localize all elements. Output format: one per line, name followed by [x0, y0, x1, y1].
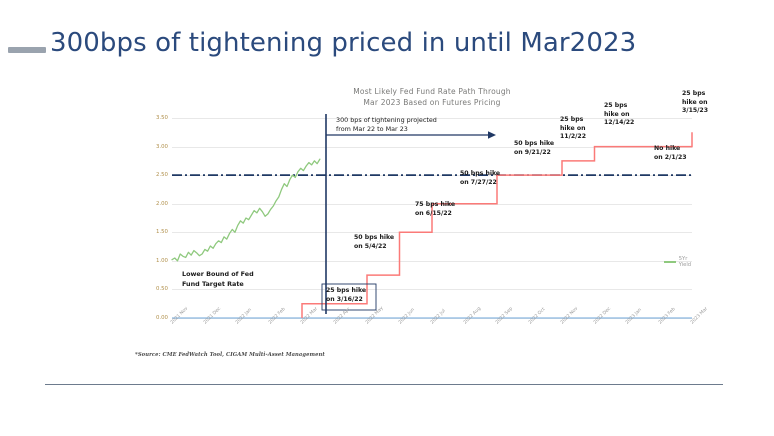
annotation-no-hike-2-1-23-line1: No hike — [654, 145, 687, 154]
annotation-hike-9-21-22-line2: on 9/21/22 — [514, 149, 554, 158]
annotation-hike-3-15-23-line1: 25 bps — [682, 90, 708, 99]
annotation-no-hike-2-1-23: No hike on 2/1/23 — [654, 145, 687, 162]
annotation-hike-7-27-22-line1: 50 bps hike — [460, 170, 500, 179]
annotation-hike-3-15-23: 25 bps hike on 3/15/23 — [682, 90, 708, 116]
annotation-hike-3-16-22-line1: 25 bps hike — [326, 287, 366, 296]
annotation-hike-3-15-23-line3: 3/15/23 — [682, 107, 708, 116]
annotation-hike-12-14-22-line2: hike on — [604, 111, 634, 120]
annotation-hike-12-14-22-line1: 25 bps — [604, 102, 634, 111]
annotation-hike-11-2-22-line2: hike on — [560, 125, 586, 134]
annotation-hike-7-27-22-line2: on 7/27/22 — [460, 179, 500, 188]
y-tick-2.50: 2.50 — [134, 172, 168, 178]
annotation-tightening-line2: from Mar 22 to Mar 23 — [336, 125, 437, 134]
annotation-hike-3-15-23-line2: hike on — [682, 99, 708, 108]
annotation-hike-11-2-22-line1: 25 bps — [560, 116, 586, 125]
annotation-lower-bound-line2: Fund Target Rate — [182, 280, 254, 290]
title-accent-dash — [8, 47, 46, 53]
y-tick-1.00: 1.00 — [134, 258, 168, 264]
annotation-hike-6-15-22: 75 bps hike on 6/15/22 — [415, 201, 455, 218]
y-axis: 3.50 3.00 2.50 2.00 1.50 1.00 0.50 0.00 — [132, 118, 168, 318]
annotation-hike-5-4-22-line2: on 5/4/22 — [354, 243, 394, 252]
x-tick-label: 2023 Mar — [690, 307, 709, 326]
page-title: 300bps of tightening priced in until Mar… — [50, 28, 636, 58]
chart-container: Most Likely Fed Fund Rate Path Through M… — [132, 86, 732, 376]
annotation-tightening-line1: 300 bps of tightening projected — [336, 116, 437, 125]
x-axis: 2021 Nov2021 Dec2022 Jan2022 Feb2022 Mar… — [172, 322, 692, 356]
annotation-hike-12-14-22-line3: 12/14/22 — [604, 119, 634, 128]
footer-divider — [45, 384, 723, 385]
y-tick-0.50: 0.50 — [134, 286, 168, 292]
annotation-hike-5-4-22: 50 bps hike on 5/4/22 — [354, 234, 394, 251]
annotation-no-hike-2-1-23-line2: on 2/1/23 — [654, 154, 687, 163]
chart-title-line1: Most Likely Fed Fund Rate Path Through — [353, 87, 511, 96]
annotation-tightening-projected: 300 bps of tightening projected from Mar… — [336, 116, 437, 134]
slide: 300bps of tightening priced in until Mar… — [0, 0, 774, 436]
y-tick-0.00: 0.00 — [134, 315, 168, 321]
annotation-hike-11-2-22: 25 bps hike on 11/2/22 — [560, 116, 586, 142]
chart-legend: 5Yr Yield — [664, 256, 695, 268]
annotation-hike-6-15-22-line2: on 6/15/22 — [415, 210, 455, 219]
annotation-hike-9-21-22: 50 bps hike on 9/21/22 — [514, 140, 554, 157]
annotation-hike-7-27-22: 50 bps hike on 7/27/22 — [460, 170, 500, 187]
annotation-hike-6-15-22-line1: 75 bps hike — [415, 201, 455, 210]
y-tick-3.00: 3.00 — [134, 144, 168, 150]
annotation-hike-5-4-22-line1: 50 bps hike — [354, 234, 394, 243]
annotation-hike-12-14-22: 25 bps hike on 12/14/22 — [604, 102, 634, 128]
annotation-hike-3-16-22-line2: on 3/16/22 — [326, 296, 366, 305]
annotation-hike-3-16-22: 25 bps hike on 3/16/22 — [326, 287, 366, 304]
y-tick-2.00: 2.00 — [134, 201, 168, 207]
annotation-hike-11-2-22-line3: 11/2/22 — [560, 133, 586, 142]
tightening-arrow-head — [488, 131, 496, 139]
plot-area: 300 bps of tightening projected from Mar… — [172, 118, 692, 318]
annotation-hike-9-21-22-line1: 50 bps hike — [514, 140, 554, 149]
y-tick-1.50: 1.50 — [134, 229, 168, 235]
chart-title-line2: Mar 2023 Based on Futures Pricing — [132, 97, 732, 108]
annotation-lower-bound: Lower Bound of Fed Fund Target Rate — [182, 270, 254, 289]
chart-title: Most Likely Fed Fund Rate Path Through M… — [132, 86, 732, 108]
chart-footnote: *Source: CME FedWatch Tool, CIGAM Multi-… — [135, 352, 325, 358]
annotation-lower-bound-line1: Lower Bound of Fed — [182, 270, 254, 280]
y-tick-3.50: 3.50 — [134, 115, 168, 121]
legend-label-yield: 5Yr Yield — [679, 256, 696, 268]
legend-swatch-yield-line — [664, 261, 676, 263]
